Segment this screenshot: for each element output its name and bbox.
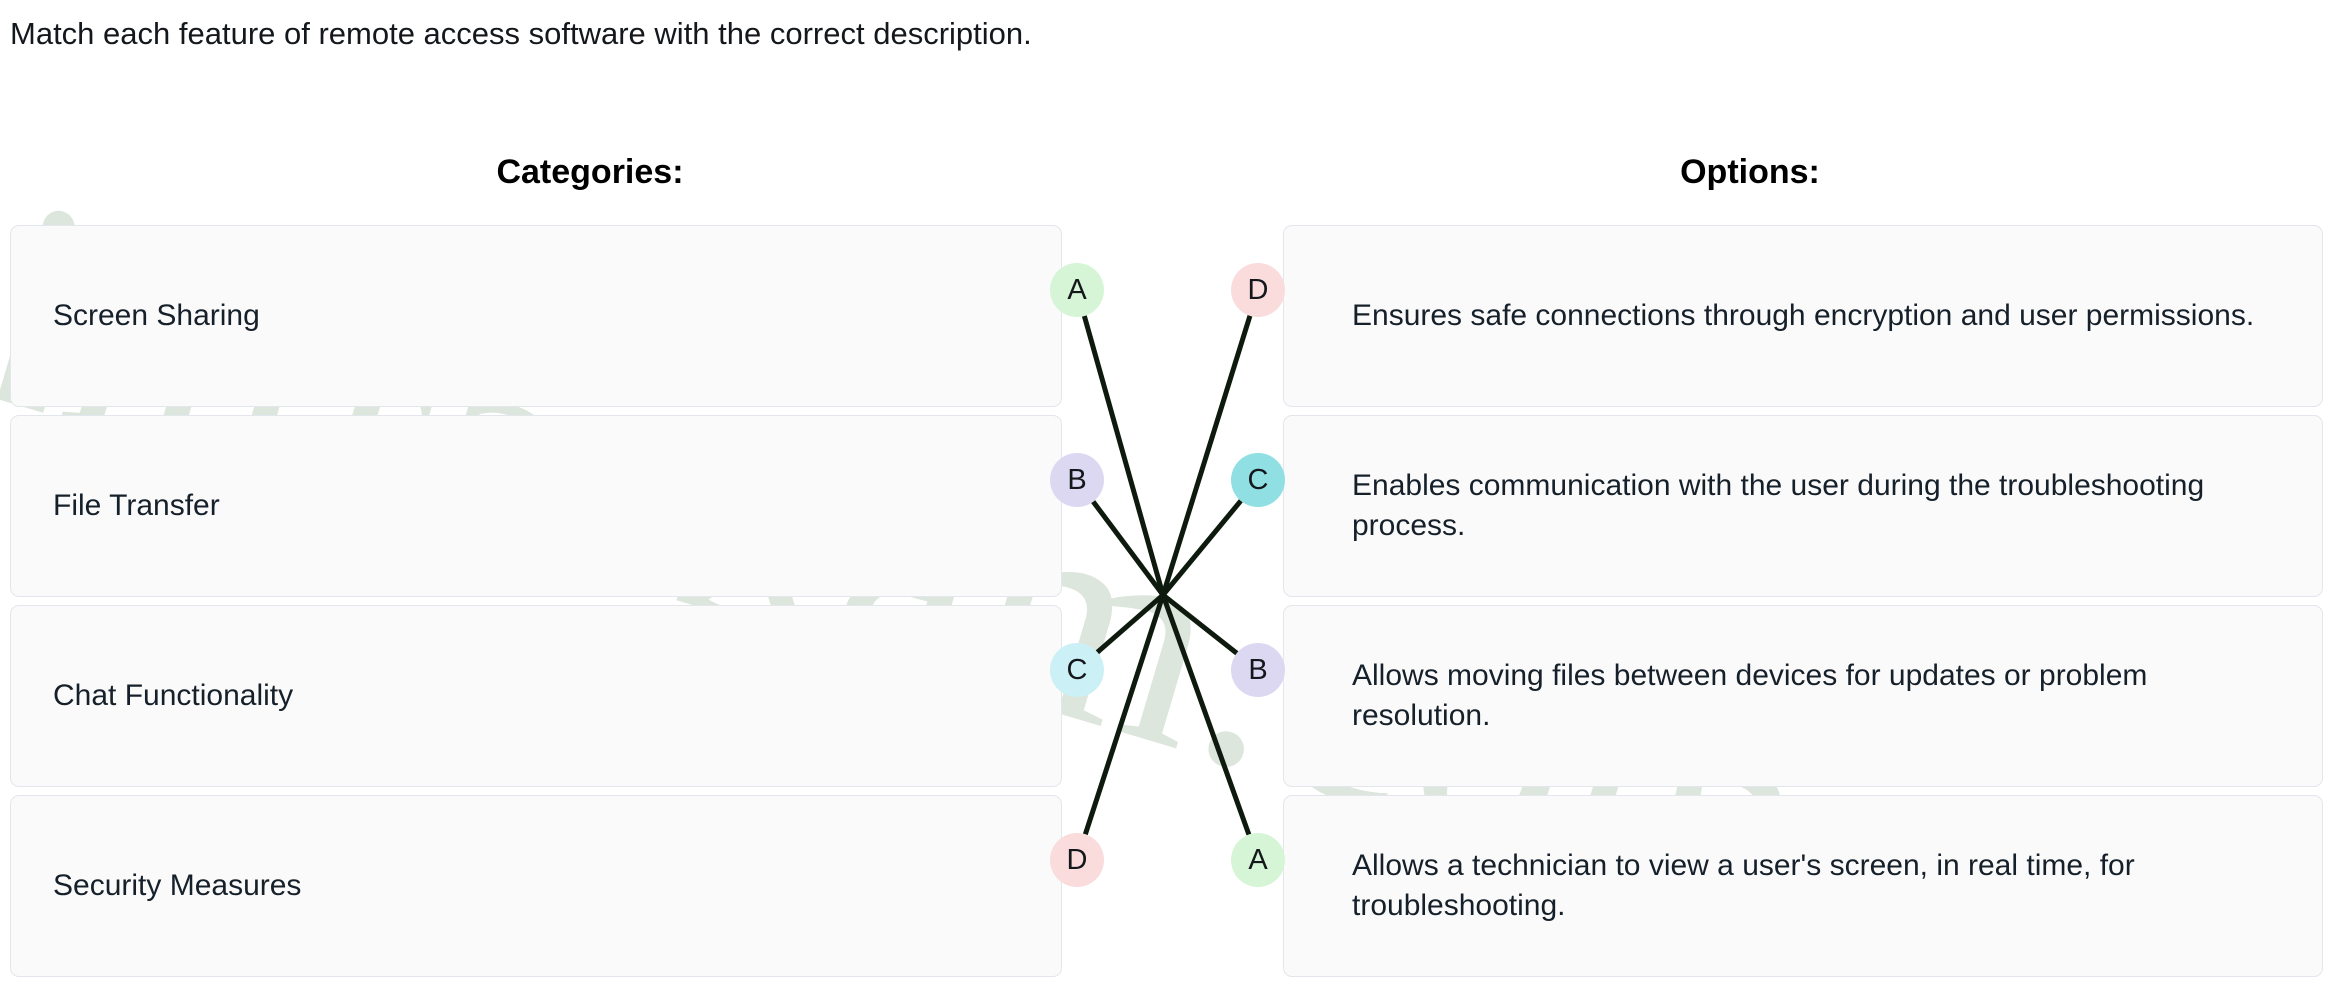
category-node-a-0[interactable]: A (1050, 263, 1104, 317)
connector-line (1163, 595, 1237, 653)
option-card[interactable]: Allows a technician to view a user's scr… (1283, 795, 2323, 977)
category-node-b-1[interactable]: B (1050, 453, 1104, 507)
connector-line (1093, 502, 1163, 595)
connector-line (1097, 595, 1163, 652)
node-letter: B (1067, 464, 1086, 497)
category-node-d-3[interactable]: D (1050, 833, 1104, 887)
category-node-c-2[interactable]: C (1050, 643, 1104, 697)
connector-line (1163, 316, 1250, 595)
options-heading: Options: (1175, 153, 2325, 192)
option-label: Ensures safe connections through encrypt… (1284, 296, 2294, 336)
connector-line (1163, 501, 1241, 595)
option-card[interactable]: Allows moving files between devices for … (1283, 605, 2323, 787)
category-label: Security Measures (11, 866, 331, 906)
option-label: Enables communication with the user duri… (1284, 466, 2322, 545)
categories-column: Screen Sharing File Transfer Chat Functi… (10, 225, 1062, 985)
option-label: Allows moving files between devices for … (1284, 656, 2322, 735)
category-card[interactable]: Chat Functionality (10, 605, 1062, 787)
node-letter: D (1248, 274, 1269, 307)
option-card[interactable]: Ensures safe connections through encrypt… (1283, 225, 2323, 407)
node-letter: C (1248, 464, 1269, 497)
category-card[interactable]: Screen Sharing (10, 225, 1062, 407)
category-label: Chat Functionality (11, 676, 323, 716)
connector-line (1163, 595, 1249, 835)
node-letter: A (1067, 274, 1086, 307)
page-title: Match each feature of remote access soft… (10, 16, 1032, 52)
option-card[interactable]: Enables communication with the user duri… (1283, 415, 2323, 597)
option-label: Allows a technician to view a user's scr… (1284, 846, 2322, 925)
option-node-a-3[interactable]: A (1231, 833, 1285, 887)
node-letter: D (1067, 844, 1088, 877)
category-label: Screen Sharing (11, 296, 290, 336)
option-node-b-2[interactable]: B (1231, 643, 1285, 697)
connector-line (1085, 595, 1163, 834)
options-column: Ensures safe connections through encrypt… (1283, 225, 2323, 985)
node-letter: C (1067, 654, 1088, 687)
category-card[interactable]: Security Measures (10, 795, 1062, 977)
category-card[interactable]: File Transfer (10, 415, 1062, 597)
categories-heading: Categories: (10, 153, 1170, 192)
option-node-d-0[interactable]: D (1231, 263, 1285, 317)
node-letter: A (1248, 844, 1267, 877)
connector-line (1084, 316, 1163, 595)
node-letter: B (1248, 654, 1267, 687)
category-label: File Transfer (11, 486, 250, 526)
option-node-c-1[interactable]: C (1231, 453, 1285, 507)
